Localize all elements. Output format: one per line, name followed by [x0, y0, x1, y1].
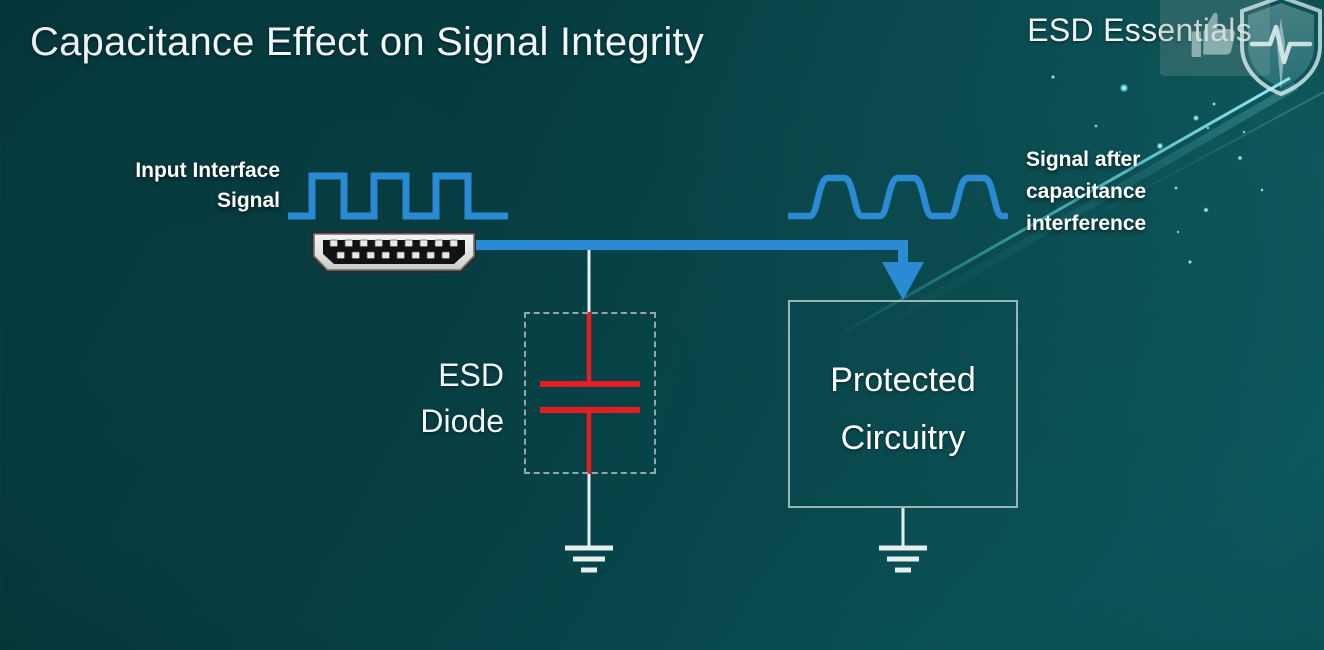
- esd-diode-label-line1: ESD: [392, 352, 504, 398]
- esd-diode-box: [524, 312, 656, 474]
- esd-diode-label: ESD Diode: [392, 352, 504, 445]
- circuit-schematic: [0, 0, 1324, 650]
- protected-circuitry-label: Protected Circuitry: [788, 352, 1018, 468]
- ground-symbol-left: [565, 548, 613, 570]
- signal-trace-blue: [476, 245, 903, 272]
- esd-diode-label-line2: Diode: [392, 398, 504, 444]
- protected-circuitry-label-line2: Circuitry: [788, 410, 1018, 468]
- ground-symbol-right: [879, 508, 927, 570]
- protected-circuitry-label-line1: Protected: [788, 352, 1018, 410]
- down-arrow-icon: [882, 262, 924, 300]
- slide-canvas: Capacitance Effect on Signal Integrity E…: [0, 0, 1324, 650]
